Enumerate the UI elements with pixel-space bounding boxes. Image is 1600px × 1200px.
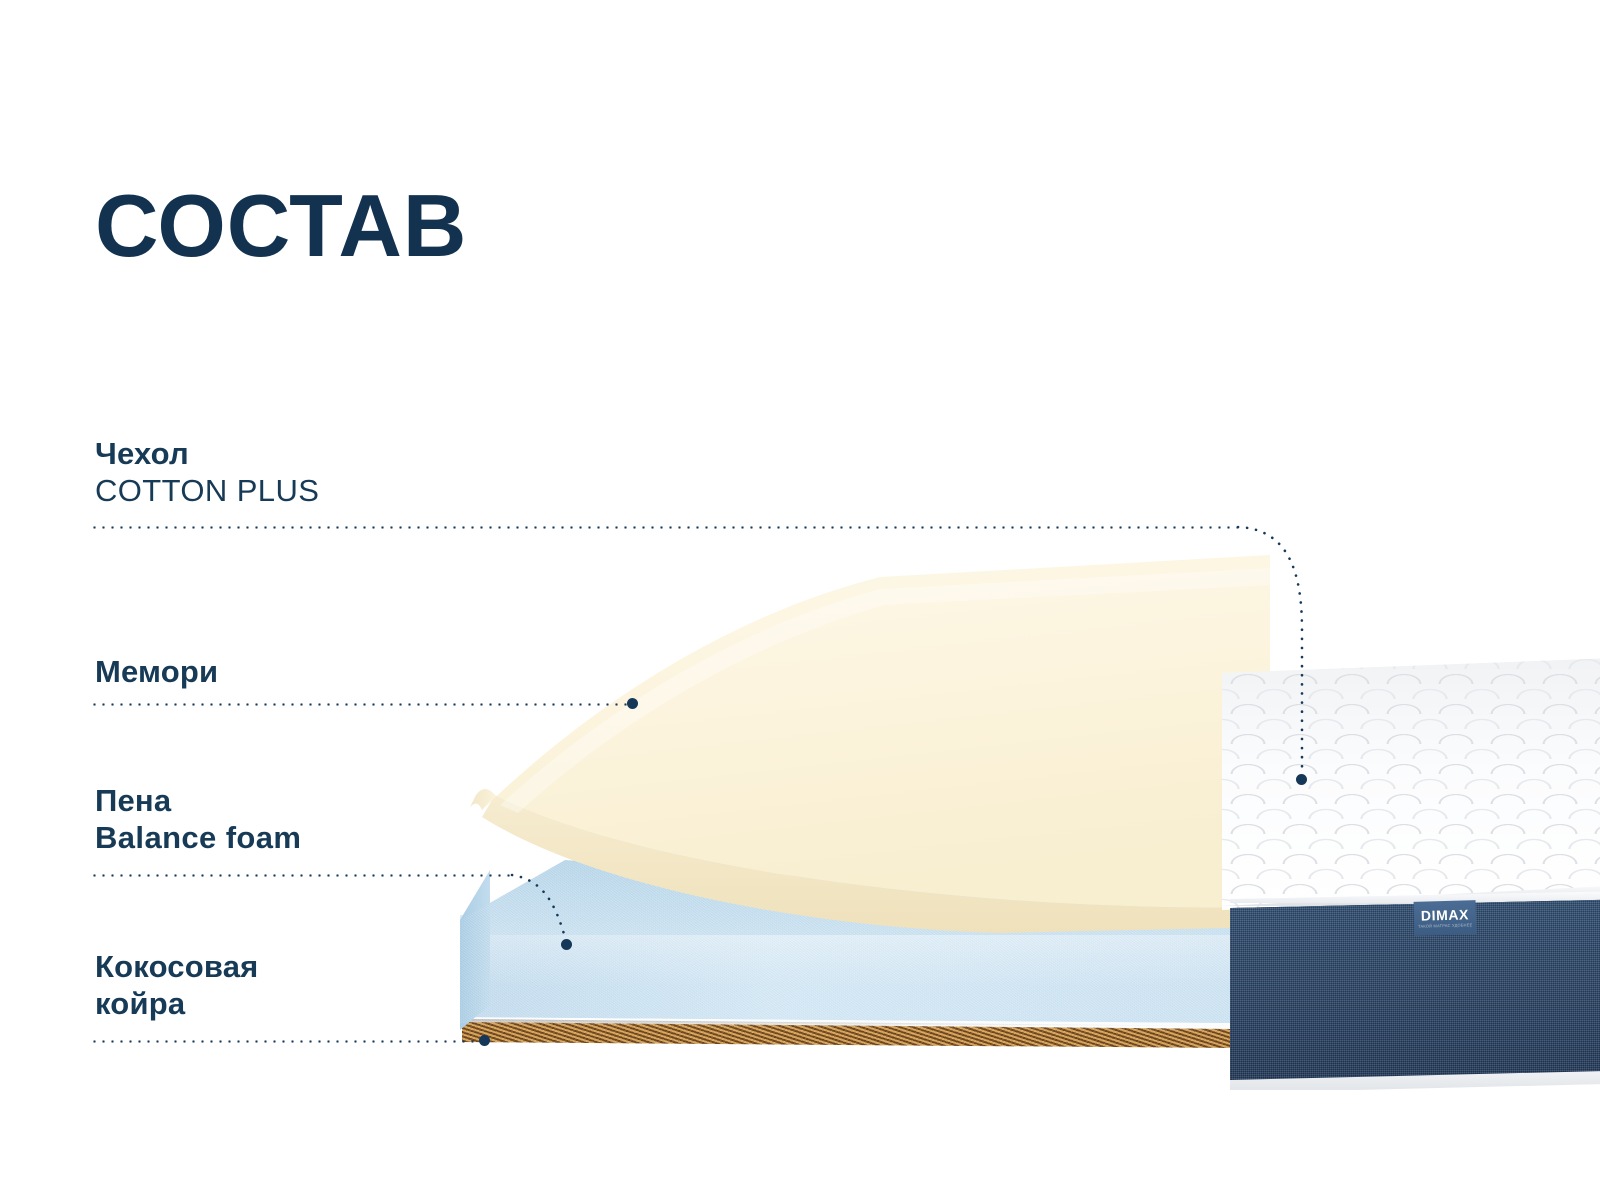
- dimax-brand-tag: DIMAX ТАКОЙ МАТРАС УДОБНЕЕ: [1414, 900, 1477, 936]
- layer-label-coir: Кокосовая койра: [95, 949, 258, 1022]
- leader-line-coir: [90, 1040, 475, 1043]
- layer-label-foam-line1: Пена: [95, 783, 301, 820]
- leader-line-foam: [90, 874, 515, 877]
- leader-endpoint-foam: [561, 939, 572, 950]
- layer-label-coir-line2: койра: [95, 986, 258, 1023]
- memory-foam-layer: [440, 555, 1270, 945]
- layer-label-memory-line1: Мемори: [95, 654, 218, 691]
- dimax-brand-name: DIMAX: [1421, 907, 1469, 922]
- leader-endpoint-cover: [1296, 774, 1307, 785]
- layer-label-foam-line2: Balance foam: [95, 820, 301, 857]
- leader-endpoint-memory: [627, 698, 638, 709]
- leader-line-cover: [90, 526, 1242, 529]
- layer-label-cover: Чехол COTTON PLUS: [95, 436, 319, 509]
- layer-label-cover-line1: Чехол: [95, 436, 319, 473]
- layer-label-cover-line2: COTTON PLUS: [95, 473, 319, 510]
- layer-label-coir-line1: Кокосовая: [95, 949, 258, 986]
- cover-quilted-top: [1222, 654, 1600, 910]
- leader-line-memory: [90, 703, 633, 706]
- composition-diagram: СОСТАВ: [0, 0, 1600, 1200]
- leader-endpoint-coir: [479, 1035, 490, 1046]
- layer-label-foam: Пена Balance foam: [95, 783, 301, 856]
- layer-label-memory: Мемори: [95, 654, 218, 691]
- dimax-brand-subtitle: ТАКОЙ МАТРАС УДОБНЕЕ: [1418, 923, 1473, 929]
